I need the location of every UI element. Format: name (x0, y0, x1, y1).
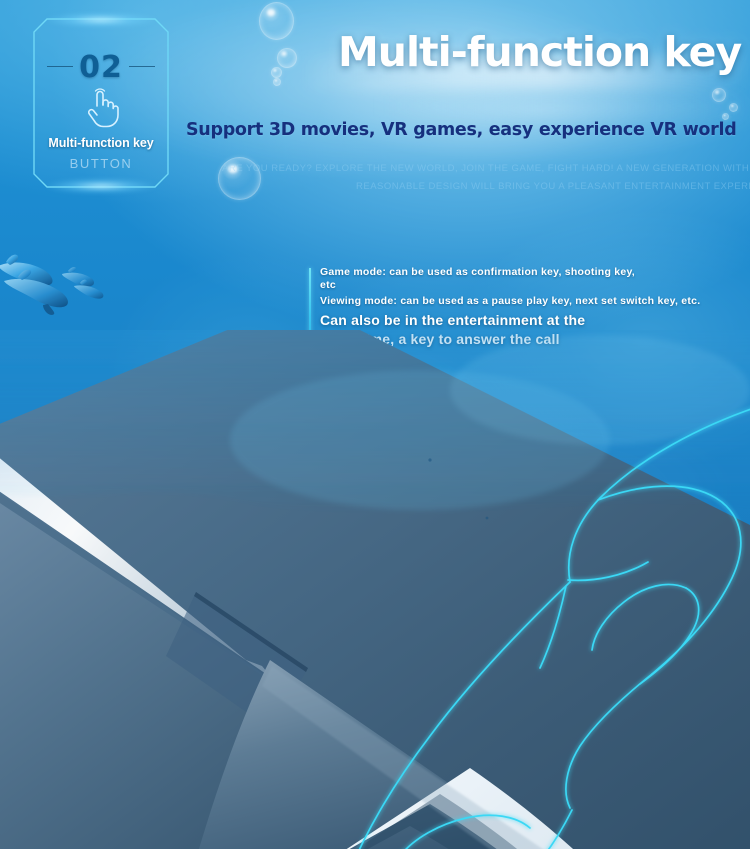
card-bottom-glow (47, 179, 155, 193)
bubble-icon (259, 2, 294, 40)
feature-line: etc (320, 279, 709, 292)
bubble-icon (729, 103, 738, 112)
card-top-glow (47, 13, 155, 27)
bubble-icon (273, 78, 281, 86)
product-banner: 02 Multi-function key BUTTON Multi-funct… (0, 0, 750, 849)
bubble-icon (712, 88, 726, 102)
card-subtitle: BUTTON (33, 156, 169, 171)
hand-tap-icon (33, 86, 169, 128)
page-title: Multi-function key (338, 28, 741, 76)
bubble-icon (722, 113, 729, 120)
watermark-line-2: REASONABLE DESIGN WILL BRING YOU A PLEAS… (356, 181, 750, 192)
step-card: 02 Multi-function key BUTTON (33, 18, 169, 188)
watermark-line-1: ARE YOU READY? EXPLORE THE NEW WORLD, JO… (222, 163, 750, 174)
feature-line: Viewing mode: can be used as a pause pla… (320, 295, 709, 308)
card-number: 02 (33, 50, 169, 85)
page-subtitle: Support 3D movies, VR games, easy experi… (186, 120, 736, 140)
card-title: Multi-function key (33, 136, 169, 150)
bubble-icon (277, 48, 297, 68)
vr-headset-photo (0, 330, 750, 849)
header-light-streak-secondary (380, 96, 750, 116)
dolphins-illustration (0, 236, 176, 336)
bubble-icon (271, 67, 282, 78)
feature-line: Game mode: can be used as confirmation k… (320, 266, 709, 279)
feature-highlight-line: Can also be in the entertainment at the (320, 311, 709, 330)
